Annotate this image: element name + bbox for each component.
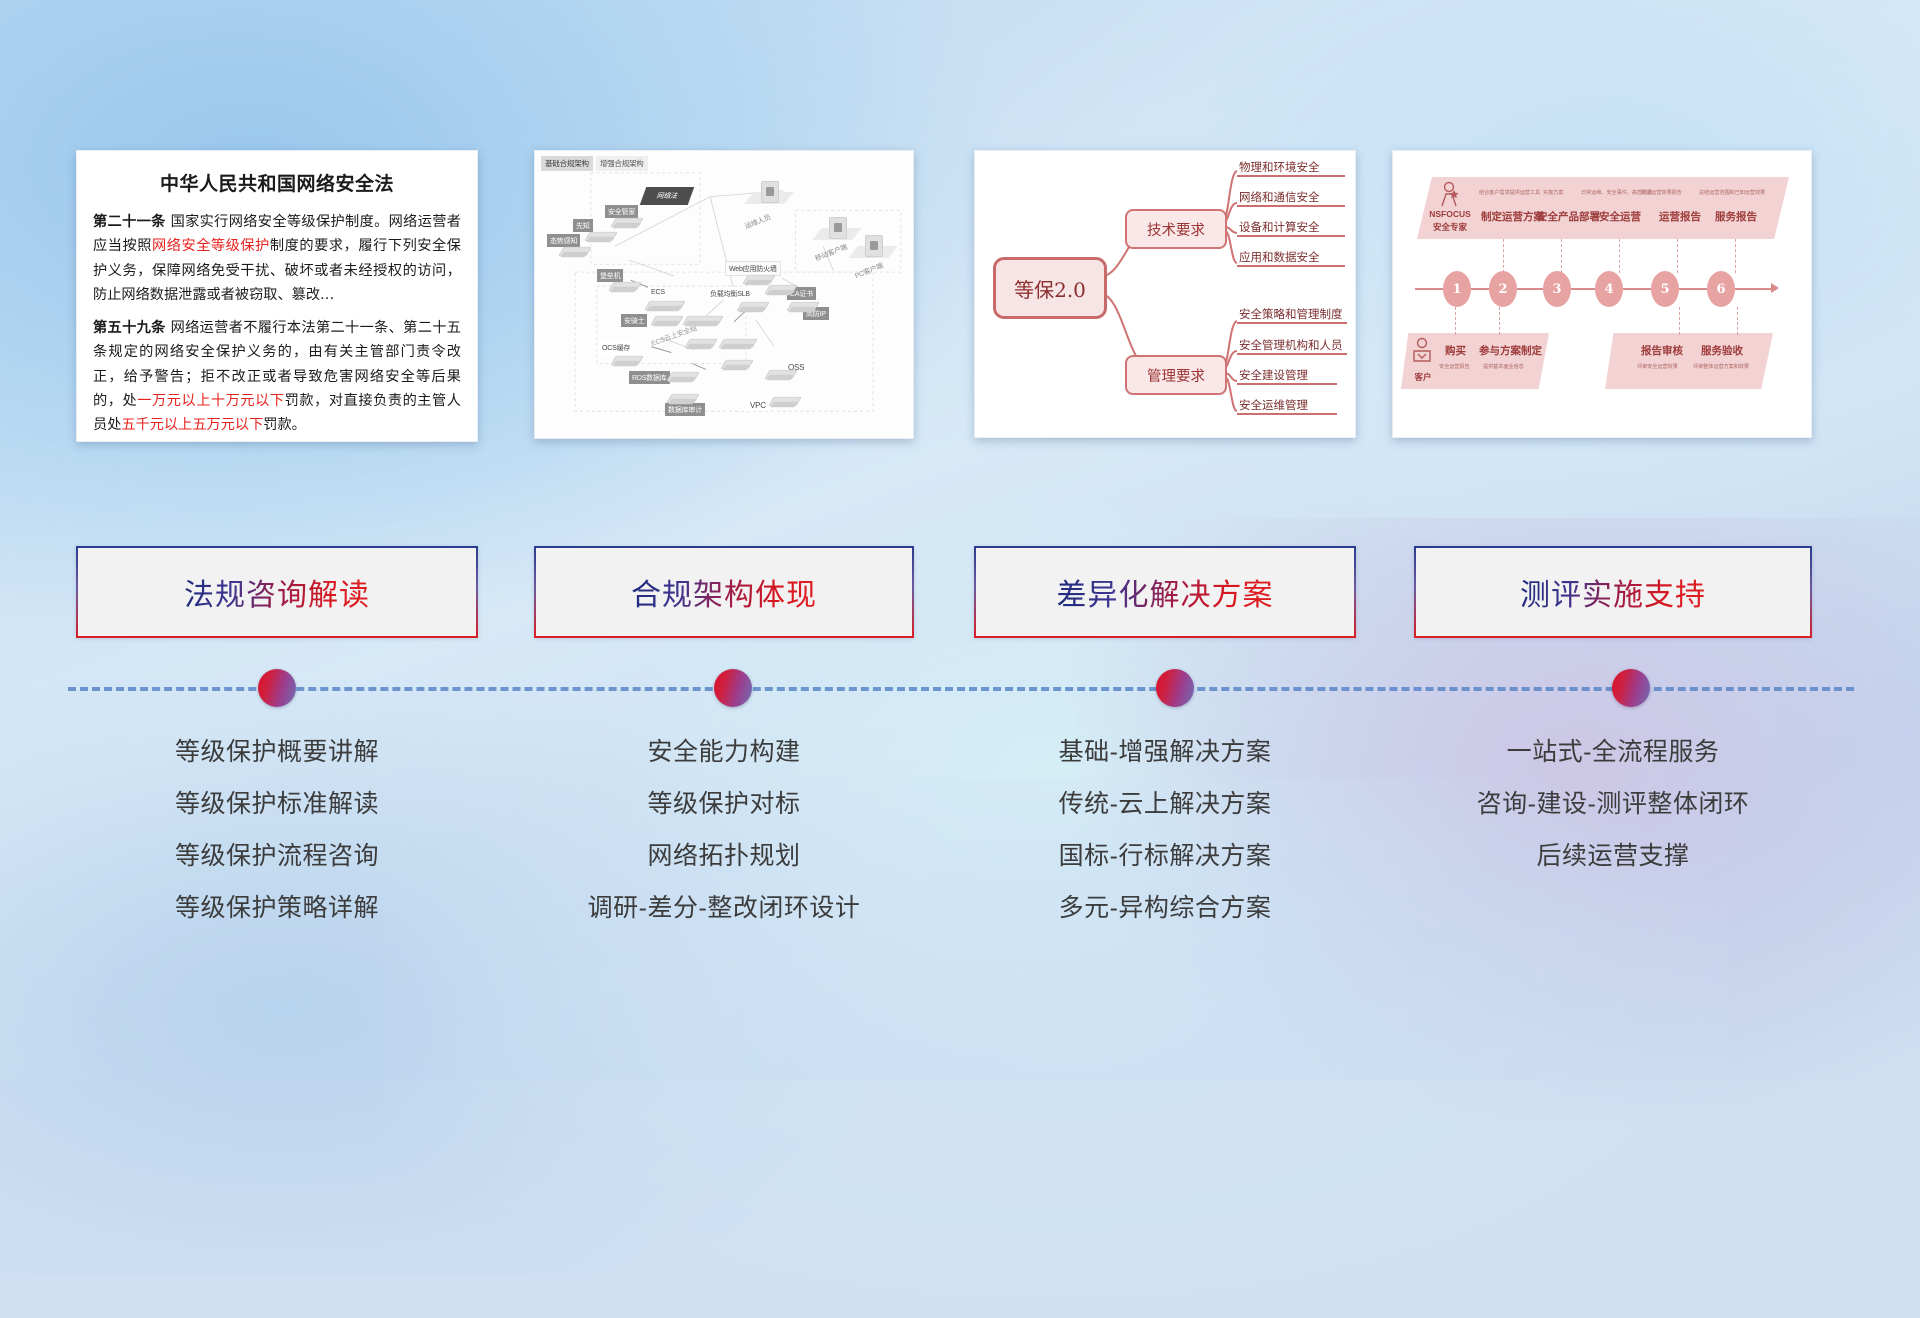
list-item: 传统-云上解决方案 (974, 792, 1356, 817)
architecture-label-VPC: VPC (747, 399, 769, 411)
flow-tick (1499, 307, 1501, 335)
law-article-21: 第二十一条 国家实行网络安全等级保护制度。网络运营者应当按照网络安全等级保护制度… (93, 210, 461, 308)
architecture-node-OCS缓存 (613, 353, 639, 370)
section-items-assessment: 一站式-全流程服务 咨询-建设-测评整体闭环 后续运营支撑 (1414, 740, 1812, 896)
flow-top-name: 制定运营方案 (1481, 209, 1544, 224)
mindmap-leaf: 应用和数据安全 (1239, 249, 1320, 265)
section-items-architecture: 安全能力构建 等级保护对标 网络拓扑规划 调研-差分-整改闭环设计 (534, 740, 914, 948)
law-article-21-highlight: 网络安全等级保护 (152, 238, 270, 254)
service-flow-diagram: NSFOCUS 安全专家 客户 结合客户需求提供运营工具 制定运营方案 实施方案… (1393, 151, 1811, 437)
infographic-stage: 中华人民共和国网络安全法 第二十一条 国家实行网络安全等级保护制度。网络运营者应… (0, 0, 1920, 1080)
cloud-architecture-diagram: 基础合规架构 增强合规架构 (535, 151, 913, 438)
section-title: 法规咨询解读 (184, 570, 370, 614)
architecture-node-VPC (771, 394, 797, 411)
flow-tick (1677, 239, 1679, 273)
flow-top-desc: 结合客户需求提供运营工具 (1479, 189, 1540, 196)
section-header-regulation[interactable]: 法规咨询解读 (76, 546, 478, 638)
section-header-solution[interactable]: 差异化解决方案 (974, 546, 1356, 638)
law-document: 中华人民共和国网络安全法 第二十一条 国家实行网络安全等级保护制度。网络运营者应… (77, 151, 477, 441)
flow-tick (1619, 239, 1621, 273)
flow-role-customer: 客户 (1407, 371, 1439, 383)
section-items-regulation: 等级保护概要讲解 等级保护标准解读 等级保护流程咨询 等级保护策略详解 (76, 740, 478, 948)
architecture-node-数据库审计 (669, 391, 695, 408)
flow-step-dot[interactable]: 3 (1543, 271, 1571, 307)
architecture-node-CA证书 (767, 282, 793, 299)
architecture-label-网络法: 网络法 (640, 187, 695, 205)
preview-card-mindmap[interactable]: 等保2.0 技术要求 管理要求 物理和环境安全 网络和通信安全 设备和计算安全 … (974, 150, 1356, 438)
architecture-node-高防IP (789, 299, 815, 316)
law-article-59-label: 第五十九条 (93, 320, 166, 336)
architecture-node-堡垒机 (611, 279, 637, 296)
list-item: 安全能力构建 (534, 740, 914, 765)
law-article-59-text-c: 罚款。 (263, 417, 306, 433)
list-item: 后续运营支撑 (1414, 844, 1812, 869)
list-item: 网络拓扑规划 (534, 844, 914, 869)
flow-bottom-desc: 评审安全运营效果 (1637, 363, 1678, 370)
flow-tick (1679, 307, 1681, 335)
flow-bottom-desc: 评审整体运营方案和效果 (1693, 363, 1749, 370)
flow-top-name: 服务报告 (1715, 209, 1757, 224)
architecture-monitor-mobile (829, 217, 847, 239)
flow-axis-arrow (1771, 283, 1779, 293)
flow-top-name: 运营报告 (1659, 209, 1701, 224)
architecture-node-安全管家 (613, 215, 639, 232)
flow-bottom-desc: 安全运营报告 (1439, 363, 1470, 370)
mindmap-branch-technical: 技术要求 (1125, 209, 1227, 249)
flow-tick (1735, 239, 1737, 273)
mindmap-root: 等保2.0 (993, 257, 1107, 319)
architecture-node-ecs-4 (721, 336, 753, 356)
law-article-59-highlight-a: 一万元以上十万元以下 (137, 393, 284, 409)
timeline-marker-4[interactable] (1612, 669, 1650, 707)
mindmap-leaf-underline (1237, 413, 1337, 415)
list-item: 咨询-建设-测评整体闭环 (1414, 792, 1812, 817)
mindmap-leaf-underline (1237, 353, 1347, 355)
mindmap-leaf: 安全管理机构和人员 (1239, 337, 1343, 353)
flow-step-dot[interactable]: 6 (1707, 271, 1735, 307)
flow-bottom-name: 购买 (1445, 343, 1466, 358)
section-title: 差异化解决方案 (1057, 570, 1274, 614)
architecture-node-先知 (587, 229, 613, 246)
section-header-architecture[interactable]: 合规架构体现 (534, 546, 914, 638)
architecture-node-ecs-5 (723, 357, 749, 374)
architecture-node-ecs-2 (685, 313, 719, 335)
mindmap-leaf-underline (1237, 175, 1345, 177)
architecture-node-态势感知 (561, 244, 587, 261)
architecture-label-ECS: ECS (648, 287, 668, 297)
flow-bottom-name: 服务验收 (1701, 343, 1743, 358)
flow-top-name: 安全运营 (1599, 209, 1641, 224)
preview-card-law[interactable]: 中华人民共和国网络安全法 第二十一条 国家实行网络安全等级保护制度。网络运营者应… (76, 150, 478, 442)
law-article-59-highlight-b: 五千元以上五万元以下 (121, 417, 263, 433)
mindmap-leaf-underline (1237, 383, 1337, 385)
flow-top-desc: 实施方案 (1543, 189, 1563, 196)
flow-bottom-name: 参与方案制定 (1479, 343, 1542, 358)
timeline-marker-1[interactable] (258, 669, 296, 707)
mindmap-leaf: 设备和计算安全 (1239, 219, 1320, 235)
timeline-dashed-line (68, 687, 1854, 691)
law-title: 中华人民共和国网络安全法 (93, 169, 461, 196)
law-article-59: 第五十九条 网络运营者不履行本法第二十一条、第二十五条规定的网络安全保护义务的，… (93, 316, 461, 438)
list-item: 基础-增强解决方案 (974, 740, 1356, 765)
flow-tick (1455, 307, 1457, 335)
section-header-row: 法规咨询解读 合规架构体现 差异化解决方案 测评实施支持 (0, 546, 1920, 638)
flow-step-dot[interactable]: 1 (1443, 271, 1471, 307)
architecture-node-RDS数据库 (669, 369, 695, 386)
list-item: 等级保护标准解读 (76, 792, 478, 817)
flow-step-dot[interactable]: 5 (1651, 271, 1679, 307)
mindmap-leaf-underline (1237, 205, 1345, 207)
preview-card-service-flow[interactable]: NSFOCUS 安全专家 客户 结合客户需求提供运营工具 制定运营方案 实施方案… (1392, 150, 1812, 438)
mindmap-diagram: 等保2.0 技术要求 管理要求 物理和环境安全 网络和通信安全 设备和计算安全 … (975, 151, 1355, 437)
list-item: 调研-差分-整改闭环设计 (534, 896, 914, 921)
flow-role-expert-name: NSFOCUS (1415, 209, 1485, 219)
architecture-monitor-ops (761, 181, 779, 203)
list-item: 等级保护概要讲解 (76, 740, 478, 765)
list-item: 等级保护策略详解 (76, 896, 478, 921)
preview-card-architecture[interactable]: 基础合规架构 增强合规架构 (534, 150, 914, 439)
architecture-node-ecs-3 (687, 336, 713, 353)
mindmap-leaf: 物理和环境安全 (1239, 159, 1320, 175)
mindmap-leaf: 安全策略和管理制度 (1239, 306, 1343, 322)
mindmap-leaf: 网络和通信安全 (1239, 189, 1320, 205)
section-items-solution: 基础-增强解决方案 传统-云上解决方案 国标-行标解决方案 多元-异构综合方案 (974, 740, 1356, 948)
mindmap-leaf-underline (1237, 322, 1347, 324)
flow-role-expert-title: 安全专家 (1415, 221, 1485, 233)
law-article-21-label: 第二十一条 (93, 214, 166, 230)
flow-tick (1737, 307, 1739, 335)
mindmap-leaf-underline (1237, 265, 1345, 267)
mindmap-leaf: 安全运维管理 (1239, 397, 1308, 413)
timeline-marker-3[interactable] (1156, 669, 1194, 707)
mindmap-leaf: 安全建设管理 (1239, 367, 1308, 383)
expert-person-icon (1437, 181, 1461, 207)
list-item: 等级保护对标 (534, 792, 914, 817)
flow-top-desc: 总结运营范围和已知运营效果 (1699, 189, 1765, 196)
architecture-label-安骑士: 安骑士 (621, 314, 647, 327)
section-title: 合规架构体现 (631, 570, 817, 614)
section-header-assessment[interactable]: 测评实施支持 (1414, 546, 1812, 638)
timeline-track (68, 686, 1854, 690)
list-item: 国标-行标解决方案 (974, 844, 1356, 869)
architecture-node-OSS (767, 367, 793, 384)
flow-tick (1503, 239, 1505, 273)
list-item: 一站式-全流程服务 (1414, 740, 1812, 765)
flow-step-dot[interactable]: 2 (1489, 271, 1517, 307)
flow-top-name: 安全产品部署 (1537, 209, 1600, 224)
flow-bottom-name: 报告审核 (1641, 343, 1683, 358)
architecture-monitor-pc (865, 235, 883, 257)
customer-person-icon (1411, 337, 1433, 369)
mindmap-leaf-underline (1237, 235, 1345, 237)
architecture-label-RDS数据库: RDS数据库 (629, 371, 670, 384)
section-title: 测评实施支持 (1520, 570, 1706, 614)
preview-card-row: 中华人民共和国网络安全法 第二十一条 国家实行网络安全等级保护制度。网络运营者应… (0, 150, 1920, 445)
list-item: 多元-异构综合方案 (974, 896, 1356, 921)
flow-tick (1561, 239, 1563, 273)
flow-bottom-desc: 提供基本面业信息 (1483, 363, 1524, 370)
flow-top-desc: 阶段运营效果报告 (1641, 189, 1682, 196)
flow-band-customer-right (1605, 333, 1773, 389)
list-item: 等级保护流程咨询 (76, 844, 478, 869)
architecture-node-负载均衡SLB (739, 299, 765, 316)
timeline-marker-2[interactable] (714, 669, 752, 707)
flow-step-dot[interactable]: 4 (1595, 271, 1623, 307)
mindmap-branch-management: 管理要求 (1125, 355, 1227, 395)
